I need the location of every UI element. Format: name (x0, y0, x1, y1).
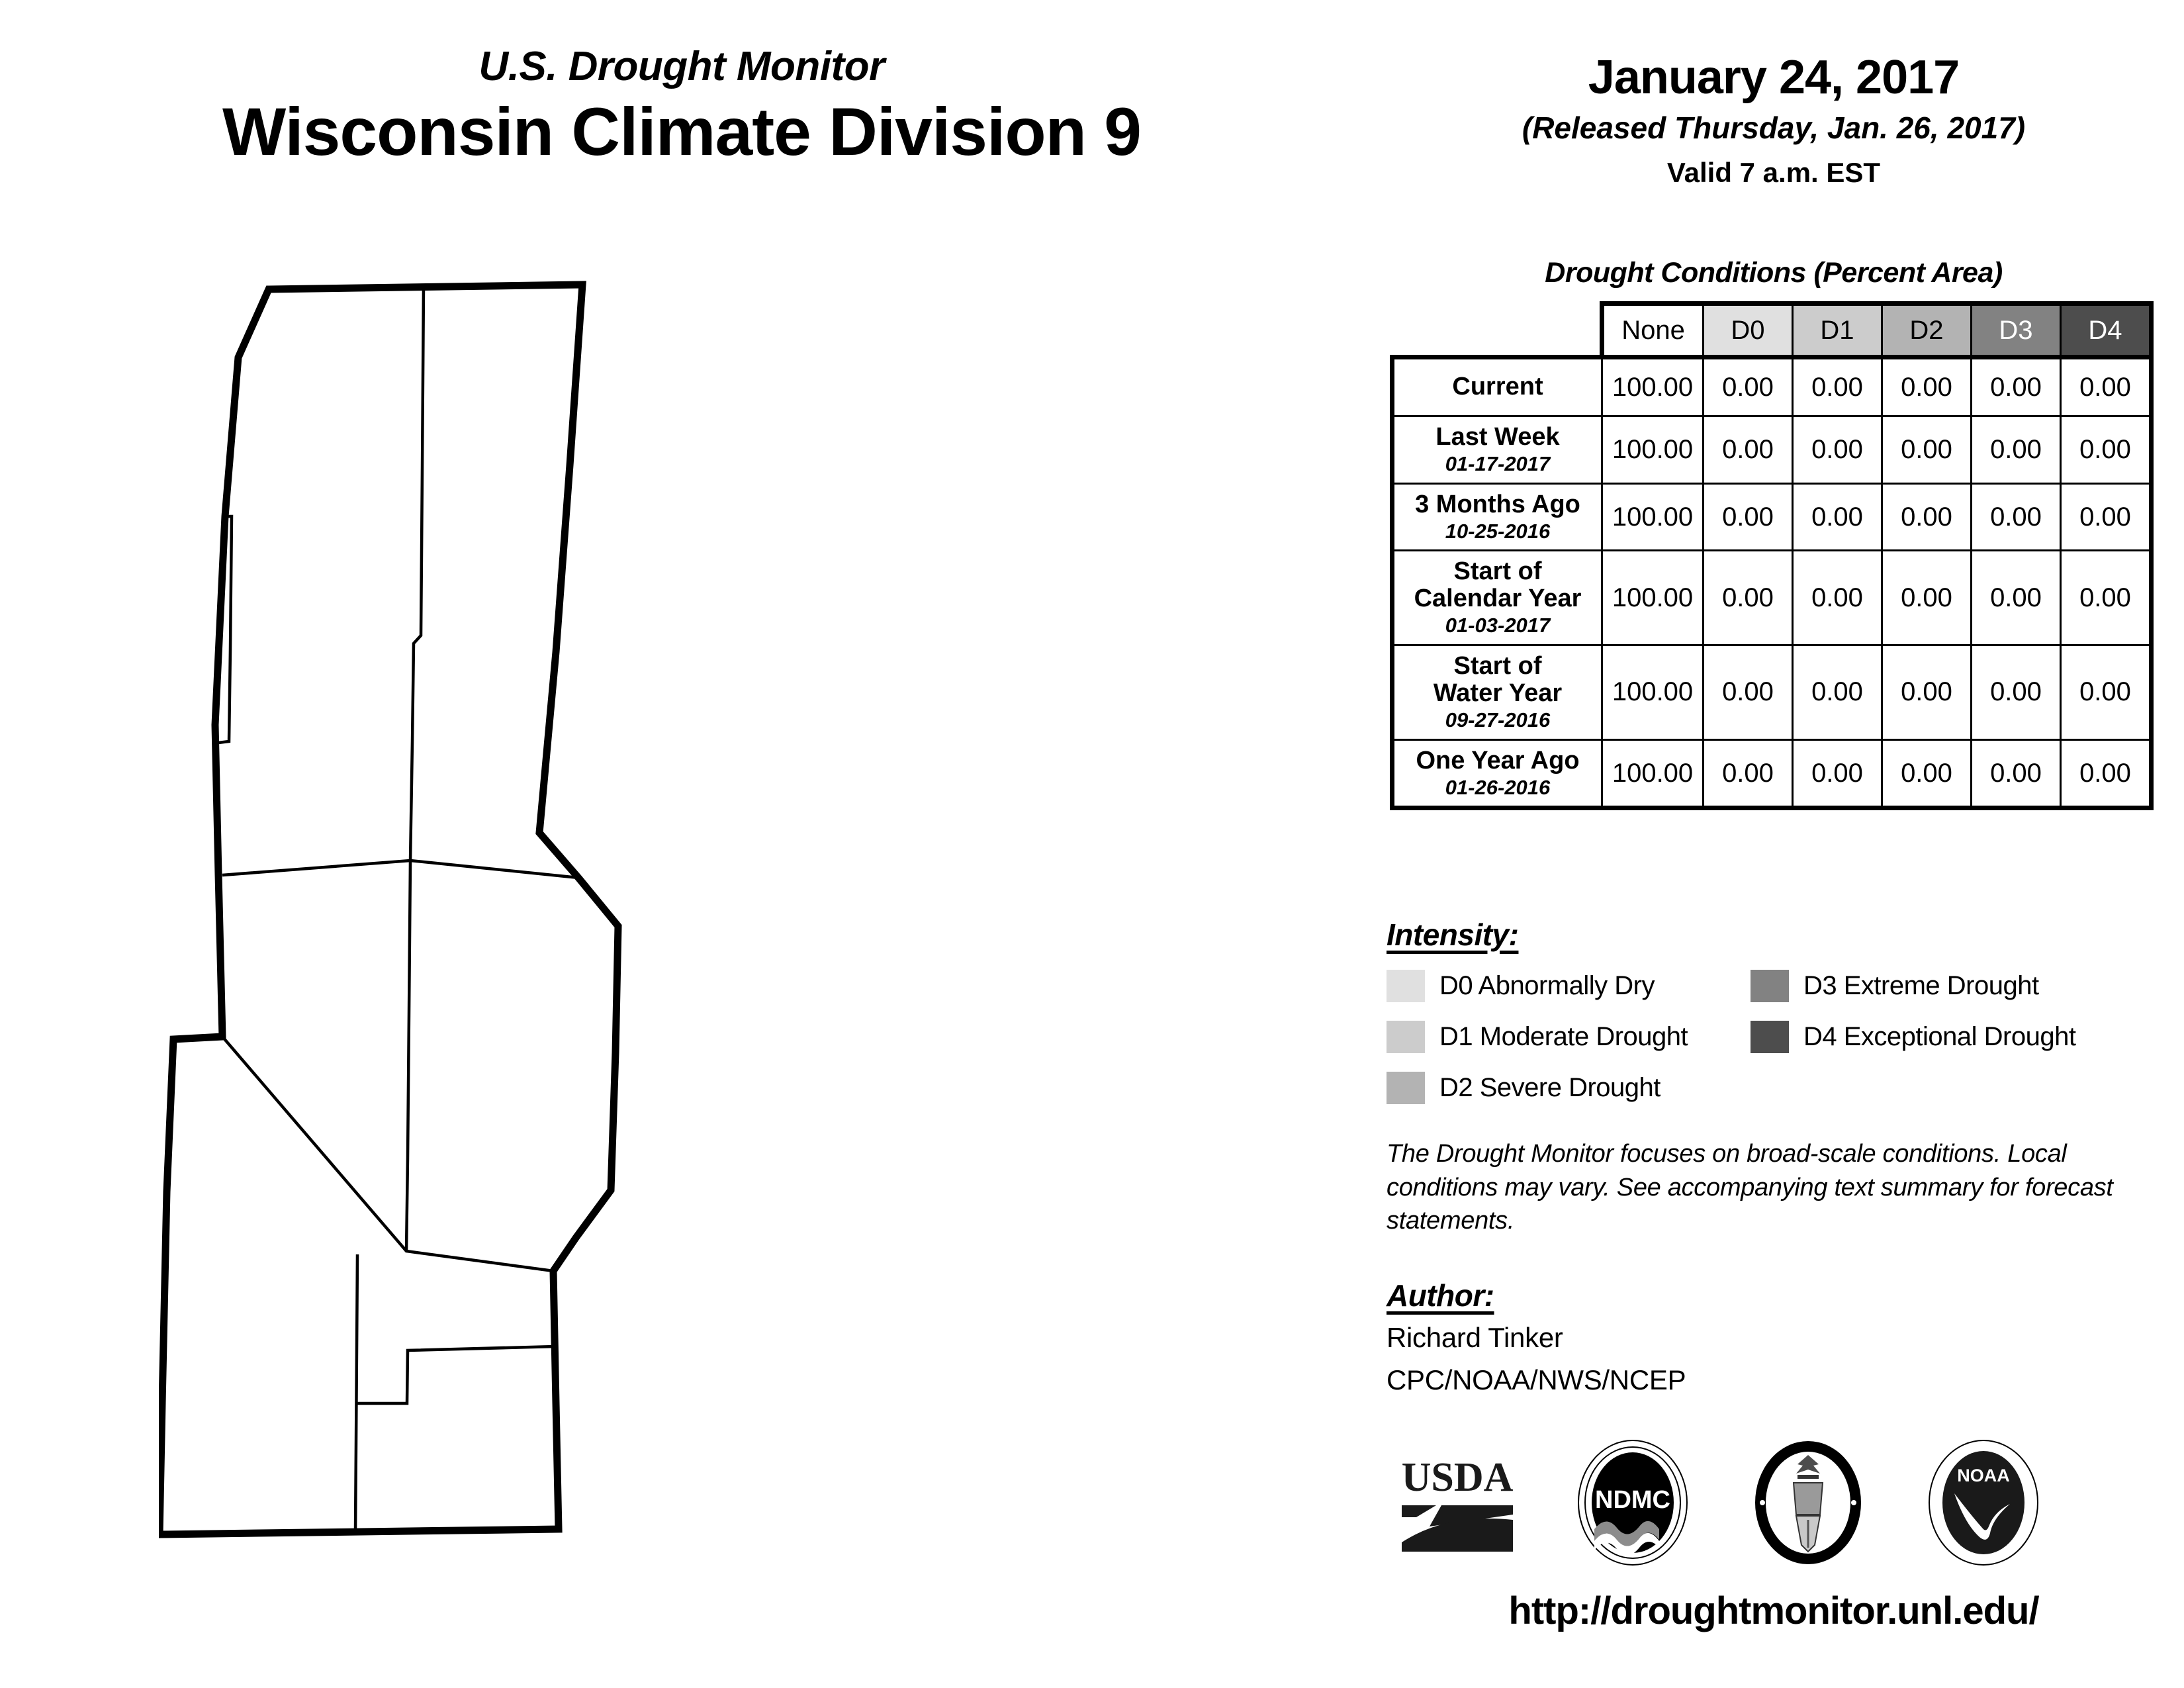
value-cell-d0: 0.00 (1704, 357, 1793, 416)
value-cell-d3: 0.00 (1972, 416, 2061, 484)
value-cell-d1: 0.00 (1793, 645, 1882, 740)
row-label-date: 01-17-2017 (1398, 452, 1597, 476)
row-label-title: Start ofWater Year (1398, 653, 1597, 707)
row-label-date: 09-27-2016 (1398, 708, 1597, 732)
value-cell-d4: 0.00 (2061, 483, 2152, 551)
intensity-heading: Intensity: (1387, 917, 1518, 953)
column-header-d1: D1 (1793, 304, 1882, 357)
header-right: January 24, 2017 (Released Thursday, Jan… (1383, 53, 2164, 188)
legend-entry-d0: D0 Abnormally Dry (1387, 970, 1751, 1002)
intensity-legend: Intensity: D0 Abnormally DryD3 Extreme D… (1387, 917, 2167, 1104)
release-date: (Released Thursday, Jan. 26, 2017) (1383, 111, 2164, 145)
doc-star-left (1760, 1500, 1765, 1505)
row-label-title: Last Week (1398, 424, 1597, 451)
value-cell-none: 100.00 (1602, 739, 1704, 808)
legend-swatch-d3 (1751, 970, 1789, 1002)
disclaimer-text: The Drought Monitor focuses on broad-sca… (1387, 1137, 2128, 1238)
agency-logo-row: USDA NDMC (1390, 1433, 2144, 1572)
valid-time: Valid 7 a.m. EST (1383, 158, 2164, 188)
drought-monitor-eyebrow: U.S. Drought Monitor (0, 46, 1363, 87)
value-cell-d4: 0.00 (2061, 416, 2152, 484)
legend-entry-d1: D1 Moderate Drought (1387, 1021, 1751, 1053)
legend-grid: D0 Abnormally DryD3 Extreme DroughtD1 Mo… (1387, 970, 2167, 1104)
column-header-none: None (1602, 304, 1704, 357)
value-cell-d2: 0.00 (1882, 357, 1972, 416)
table-header-row: None D0 D1 D2 D3 D4 (1392, 304, 2152, 357)
value-cell-d0: 0.00 (1704, 551, 1793, 645)
row-label-title: Current (1398, 373, 1597, 400)
department-of-commerce-seal (1741, 1436, 1876, 1569)
table-head: None D0 D1 D2 D3 D4 (1392, 304, 2152, 357)
author-name: Richard Tinker (1387, 1320, 2128, 1356)
usda-field (1402, 1519, 1513, 1552)
doc-star-right (1851, 1500, 1856, 1505)
legend-entry-d3: D3 Extreme Drought (1751, 970, 2121, 1002)
value-cell-d3: 0.00 (1972, 357, 2061, 416)
legend-swatch-d4 (1751, 1021, 1789, 1053)
ndmc-logo-icon: NDMC (1565, 1436, 1701, 1569)
row-label-title: One Year Ago (1398, 747, 1597, 774)
row-label-cell: Start ofWater Year09-27-2016 (1392, 645, 1602, 740)
legend-entry-d4: D4 Exceptional Drought (1751, 1021, 2121, 1053)
usda-wordmark: USDA (1402, 1455, 1514, 1500)
column-header-d2: D2 (1882, 304, 1972, 357)
author-heading: Author: (1387, 1278, 1494, 1313)
value-cell-d3: 0.00 (1972, 739, 2061, 808)
value-cell-d1: 0.00 (1793, 416, 1882, 484)
row-label-cell: Start ofCalendar Year01-03-2017 (1392, 551, 1602, 645)
noaa-wordmark: NOAA (1957, 1466, 2010, 1485)
noaa-logo: NOAA (1916, 1436, 2052, 1569)
value-cell-d4: 0.00 (2061, 739, 2152, 808)
issue-date: January 24, 2017 (1383, 53, 2164, 103)
table-row: One Year Ago01-26-2016100.000.000.000.00… (1392, 739, 2152, 808)
row-label-cell: Current (1392, 357, 1602, 416)
usda-furrow-1 (1402, 1505, 1436, 1517)
usda-logo-icon: USDA (1390, 1436, 1525, 1569)
legend-swatch-d2 (1387, 1072, 1425, 1104)
legend-label-d2: D2 Severe Drought (1439, 1073, 1661, 1103)
value-cell-d0: 0.00 (1704, 416, 1793, 484)
author-block: Author: Richard Tinker CPC/NOAA/NWS/NCEP (1387, 1278, 2128, 1398)
value-cell-d4: 0.00 (2061, 645, 2152, 740)
value-cell-d2: 0.00 (1882, 416, 1972, 484)
climate-division-map[interactable] (159, 278, 1191, 1609)
table-row: Start ofCalendar Year01-03-2017100.000.0… (1392, 551, 2152, 645)
value-cell-d3: 0.00 (1972, 645, 2061, 740)
map-svg (159, 278, 1191, 1609)
legend-swatch-d0 (1387, 970, 1425, 1002)
legend-label-d3: D3 Extreme Drought (1803, 971, 2039, 1001)
row-label-cell: One Year Ago01-26-2016 (1392, 739, 1602, 808)
page-title: Wisconsin Climate Division 9 (0, 94, 1363, 169)
legend-label-d4: D4 Exceptional Drought (1803, 1022, 2075, 1052)
value-cell-d1: 0.00 (1793, 551, 1882, 645)
author-affiliation: CPC/NOAA/NWS/NCEP (1387, 1362, 2128, 1398)
value-cell-d2: 0.00 (1882, 551, 1972, 645)
table-caption: Drought Conditions (Percent Area) (1383, 257, 2164, 289)
value-cell-d2: 0.00 (1882, 483, 1972, 551)
value-cell-d1: 0.00 (1793, 483, 1882, 551)
value-cell-d2: 0.00 (1882, 739, 1972, 808)
column-header-d0: D0 (1704, 304, 1793, 357)
value-cell-none: 100.00 (1602, 551, 1704, 645)
value-cell-d4: 0.00 (2061, 551, 2152, 645)
value-cell-none: 100.00 (1602, 416, 1704, 484)
header-left: U.S. Drought Monitor Wisconsin Climate D… (0, 46, 1363, 169)
table-row: Current100.000.000.000.000.000.00 (1392, 357, 2152, 416)
legend-label-d1: D1 Moderate Drought (1439, 1022, 1688, 1052)
legend-swatch-d1 (1387, 1021, 1425, 1053)
drought-conditions-table: None D0 D1 D2 D3 D4 Current100.000.000.0… (1390, 301, 2154, 810)
table-body: Current100.000.000.000.000.000.00Last We… (1392, 357, 2152, 808)
ndmc-logo: NDMC (1565, 1436, 1701, 1569)
doc-shield-upper (1794, 1483, 1823, 1515)
noaa-logo-icon: NOAA (1916, 1436, 2052, 1569)
row-label-title: 3 Months Ago (1398, 491, 1597, 518)
department-of-commerce-seal-icon (1741, 1436, 1876, 1569)
legend-entry-d2: D2 Severe Drought (1387, 1072, 1751, 1104)
row-label-title: Start ofCalendar Year (1398, 558, 1597, 612)
county-divider-bottom (355, 1254, 357, 1531)
row-label-cell: 3 Months Ago10-25-2016 (1392, 483, 1602, 551)
value-cell-d2: 0.00 (1882, 645, 1972, 740)
row-label-cell: Last Week01-17-2017 (1392, 416, 1602, 484)
value-cell-d1: 0.00 (1793, 739, 1882, 808)
value-cell-d3: 0.00 (1972, 483, 2061, 551)
value-cell-none: 100.00 (1602, 357, 1704, 416)
value-cell-d1: 0.00 (1793, 357, 1882, 416)
column-header-d3: D3 (1972, 304, 2061, 357)
table-corner-cell (1392, 304, 1602, 357)
row-label-date: 01-26-2016 (1398, 776, 1597, 800)
table-row: 3 Months Ago10-25-2016100.000.000.000.00… (1392, 483, 2152, 551)
doc-eagle-base (1797, 1475, 1819, 1479)
table-row: Start ofWater Year09-27-2016100.000.000.… (1392, 645, 2152, 740)
row-label-date: 01-03-2017 (1398, 614, 1597, 637)
value-cell-d0: 0.00 (1704, 645, 1793, 740)
value-cell-d3: 0.00 (1972, 551, 2061, 645)
value-cell-none: 100.00 (1602, 645, 1704, 740)
value-cell-none: 100.00 (1602, 483, 1704, 551)
usda-logo: USDA (1390, 1436, 1525, 1569)
value-cell-d4: 0.00 (2061, 357, 2152, 416)
column-header-d4: D4 (2061, 304, 2152, 357)
website-url[interactable]: http://droughtmonitor.unl.edu/ (1383, 1589, 2164, 1633)
value-cell-d0: 0.00 (1704, 739, 1793, 808)
ndmc-wordmark: NDMC (1595, 1486, 1670, 1514)
legend-label-d0: D0 Abnormally Dry (1439, 971, 1655, 1001)
table-row: Last Week01-17-2017100.000.000.000.000.0… (1392, 416, 2152, 484)
row-label-date: 10-25-2016 (1398, 520, 1597, 543)
value-cell-d0: 0.00 (1704, 483, 1793, 551)
